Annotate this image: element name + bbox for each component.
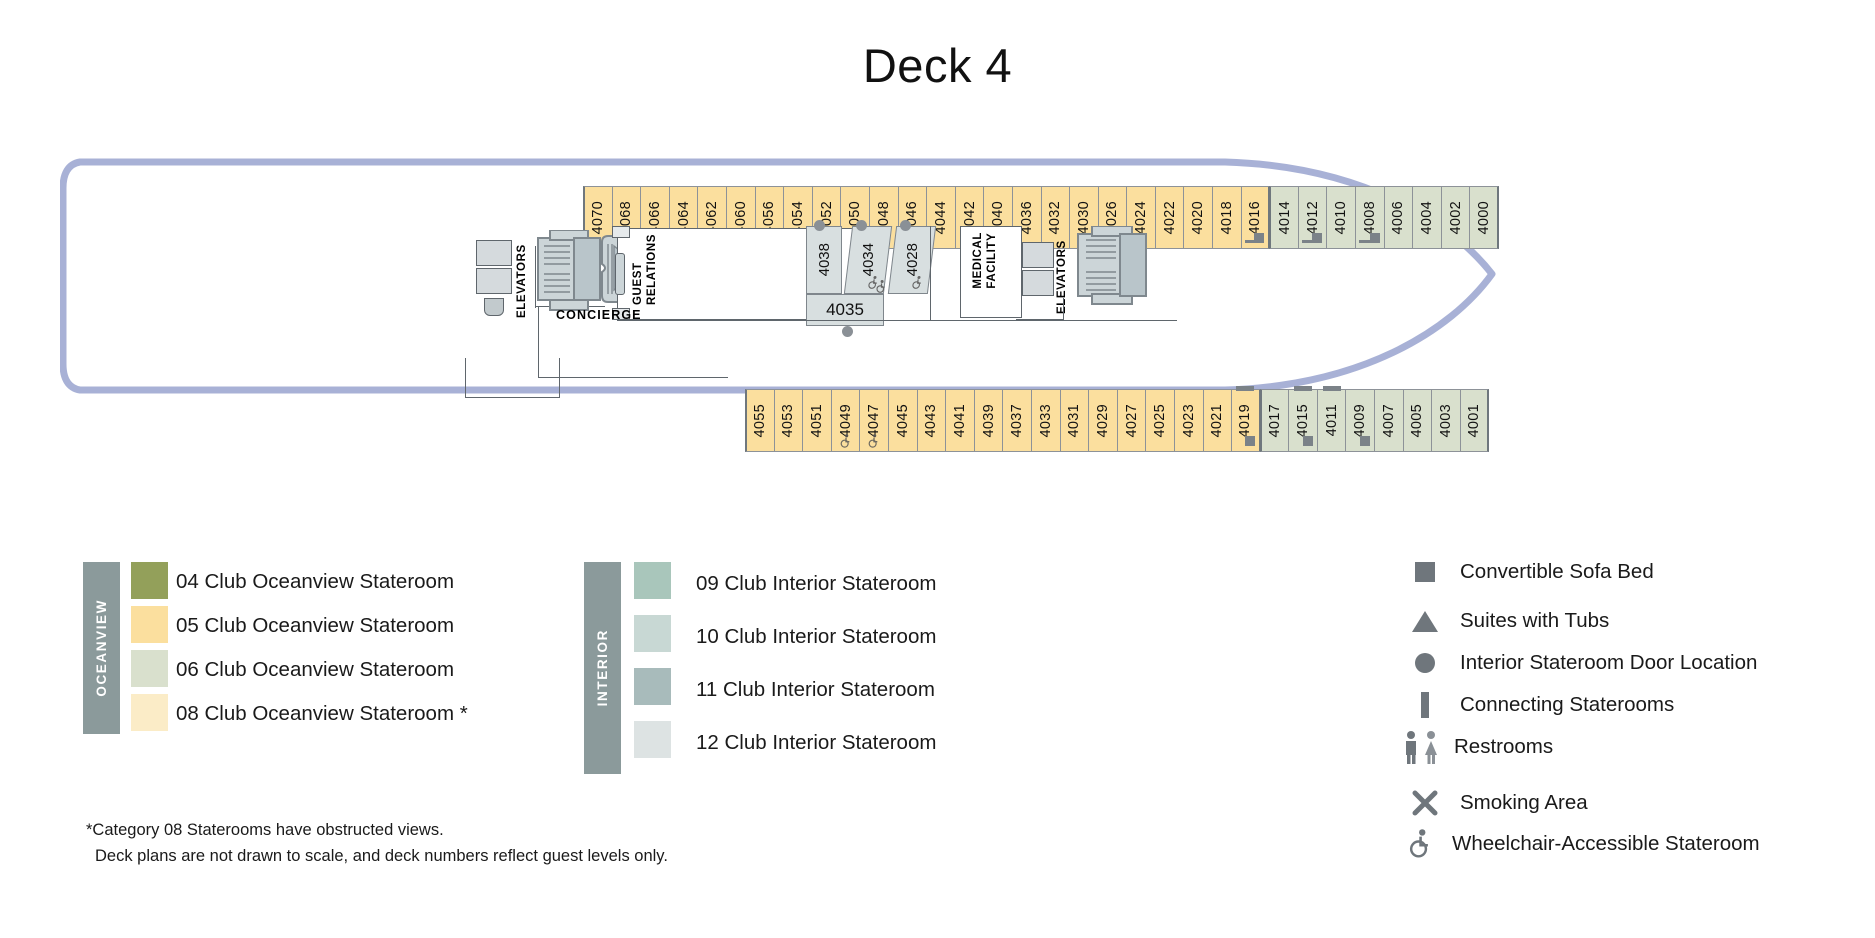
stateroom-4043[interactable]: 4043 [917,389,947,452]
restroom-aft-2 [476,268,512,294]
stateroom-row-bottom: 4055 4053 4051 4049 4047 4045 4043 4041 … [745,389,1488,452]
stateroom-4049[interactable]: 4049 [831,389,861,452]
legend-swatch-09 [634,562,671,599]
connecting-bar-icon [1236,386,1254,391]
stateroom-4047[interactable]: 4047 [859,389,889,452]
legend-swatch-10 [634,615,671,652]
legend-label-08: 08 Club Oceanview Stateroom * [176,702,468,726]
stateroom-4006[interactable]: 4006 [1384,186,1414,249]
legend-symbol-label-sofa-bed: Convertible Sofa Bed [1460,560,1654,584]
legend-label-05: 05 Club Oceanview Stateroom [176,614,454,638]
stateroom-4033[interactable]: 4033 [1031,389,1061,452]
elevator-fwd-1 [1022,242,1054,268]
stateroom-4010[interactable]: 4010 [1326,186,1356,249]
page-title: Deck 4 [0,38,1875,93]
sofa-bed-icon [1303,436,1313,446]
legend-swatch-11 [634,668,671,705]
legend-label-06: 06 Club Oceanview Stateroom [176,658,454,682]
corridor-line-vertical [930,226,932,320]
elevators-aft-label: ELEVATORS [516,240,528,318]
legend-symbol-label-wheelchair: Wheelchair-Accessible Stateroom [1452,832,1760,856]
stateroom-4028[interactable]: 4028 [888,226,936,294]
stateroom-4007[interactable]: 4007 [1374,389,1404,452]
legend-symbol-label-suites-tubs: Suites with Tubs [1460,609,1609,633]
stateroom-4005[interactable]: 4005 [1403,389,1433,452]
restroom-aft-stair [484,298,504,316]
legend-symbol-wheelchair: Wheelchair-Accessible Stateroom [1404,828,1760,860]
footnote-line-2: Deck plans are not drawn to scale, and d… [86,844,668,870]
legend-symbol-smoking: Smoking Area [1408,790,1588,816]
legend-symbol-sofa-bed: Convertible Sofa Bed [1408,560,1654,584]
legend-swatch-04 [131,562,168,599]
sofa-bed-icon [1245,436,1255,446]
wheelchair-icon [838,433,854,449]
legend-swatch-12 [634,721,671,758]
stateroom-4017[interactable]: 4017 [1260,389,1290,452]
stateroom-4053[interactable]: 4053 [774,389,804,452]
stateroom-4008[interactable]: 4008 [1355,186,1385,249]
legend-swatch-08 [131,694,168,731]
legend-symbol-restrooms: Restrooms [1400,730,1553,764]
legend-symbol-door-location: Interior Stateroom Door Location [1408,651,1757,675]
stateroom-4000[interactable]: 4000 [1469,186,1499,249]
legend-symbol-label-door-location: Interior Stateroom Door Location [1460,651,1757,675]
stateroom-4025[interactable]: 4025 [1145,389,1175,452]
connecting-bar-icon [1359,240,1372,243]
legend-label-12: 12 Club Interior Stateroom [696,731,936,755]
wheelchair-icon [909,275,926,290]
stateroom-4019[interactable]: 4019 [1231,389,1261,452]
interior-door-dot-4035 [842,326,853,337]
stateroom-4038[interactable]: 4038 [806,226,842,294]
stateroom-4021[interactable]: 4021 [1203,389,1233,452]
stateroom-4037[interactable]: 4037 [1002,389,1032,452]
corridor-line-lower [617,320,1177,322]
stateroom-4016[interactable]: 4016 [1241,186,1271,249]
legend-label-10: 10 Club Interior Stateroom [696,625,936,649]
x-icon [1408,790,1442,816]
fwd-stairwell-graphic [1072,226,1168,322]
stateroom-4009[interactable]: 4009 [1345,389,1375,452]
footnote-line-1: *Category 08 Staterooms have obstructed … [86,821,444,839]
restroom-icon [1400,730,1444,764]
stateroom-4002[interactable]: 4002 [1441,186,1471,249]
guest-relations-door-top [612,226,630,238]
legend-symbol-connecting: Connecting Staterooms [1408,692,1674,718]
stateroom-4051[interactable]: 4051 [802,389,832,452]
guest-relations-counter [615,253,625,295]
connecting-bar-icon [1294,386,1312,391]
concierge-wall [538,306,728,378]
square-icon [1408,562,1442,582]
fwd-corridor-wall [1016,298,1064,320]
legend-symbol-label-smoking: Smoking Area [1460,791,1588,815]
footnote: *Category 08 Staterooms have obstructed … [86,818,668,869]
legend-swatch-05 [131,606,168,643]
wheelchair-icon [874,279,889,294]
legend-symbol-label-restrooms: Restrooms [1454,735,1553,759]
restroom-aft-1 [476,240,512,266]
wheelchair-icon [866,433,882,449]
stateroom-4004[interactable]: 4004 [1412,186,1442,249]
deck-plan-page: Deck 4 4070 4068 4066 4064 4062 4060 405… [0,0,1875,938]
connecting-bar-icon [1302,240,1315,243]
stateroom-4015[interactable]: 4015 [1288,389,1318,452]
connecting-bar-icon [1323,386,1341,391]
stateroom-4012[interactable]: 4012 [1298,186,1328,249]
stateroom-4020[interactable]: 4020 [1183,186,1213,249]
guest-relations-label: GUEST RELATIONS [632,234,658,305]
stateroom-4014[interactable]: 4014 [1269,186,1299,249]
stateroom-4023[interactable]: 4023 [1174,389,1204,452]
wheelchair-icon [1404,828,1438,860]
triangle-icon [1408,611,1442,632]
stateroom-4018[interactable]: 4018 [1212,186,1242,249]
legend-label-11: 11 Club Interior Stateroom [696,678,935,702]
stateroom-4011[interactable]: 4011 [1317,389,1347,452]
stateroom-4041[interactable]: 4041 [945,389,975,452]
bar-icon [1408,692,1442,718]
legend-group-oceanview: OCEANVIEW [83,562,120,734]
stateroom-4027[interactable]: 4027 [1117,389,1147,452]
stateroom-4045[interactable]: 4045 [888,389,918,452]
circle-icon [1408,653,1442,673]
stateroom-4031[interactable]: 4031 [1060,389,1090,452]
legend-group-interior: INTERIOR [584,562,621,774]
stateroom-4003[interactable]: 4003 [1431,389,1461,452]
legend-symbol-suites-tubs: Suites with Tubs [1408,609,1609,633]
stateroom-4001[interactable]: 4001 [1460,389,1490,452]
stateroom-4055[interactable]: 4055 [745,389,775,452]
legend-symbol-label-connecting: Connecting Staterooms [1460,693,1674,717]
legend-swatch-06 [131,650,168,687]
connecting-bar-icon [1245,240,1258,243]
medical-facility-label: MEDICAL FACILITY [972,232,998,289]
stateroom-4039[interactable]: 4039 [974,389,1004,452]
interior-door-dot-4034 [856,220,867,231]
sofa-bed-icon [1360,436,1370,446]
interior-door-dot-4038 [814,220,825,231]
legend-label-09: 09 Club Interior Stateroom [696,572,936,596]
elevator-fwd-2 [1022,270,1054,296]
interior-door-dot-4028 [900,220,911,231]
stateroom-4029[interactable]: 4029 [1088,389,1118,452]
legend-label-04: 04 Club Oceanview Stateroom [176,570,454,594]
